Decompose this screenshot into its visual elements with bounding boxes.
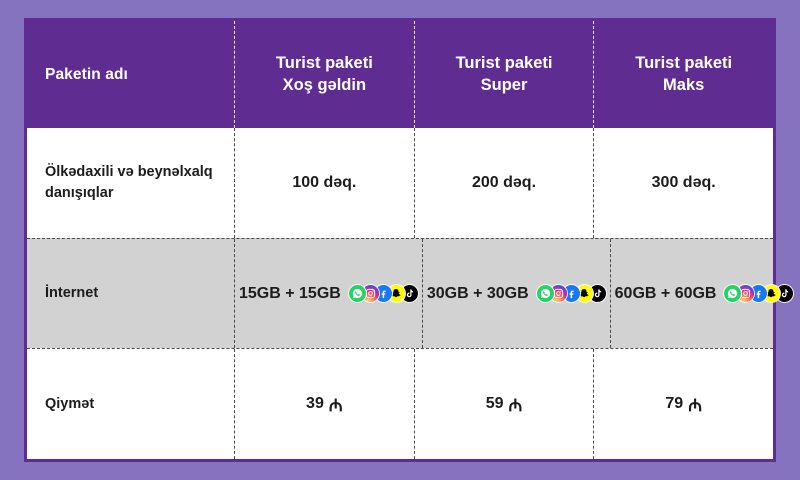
cell-price-package-3: 79₼ — [593, 349, 773, 459]
social-icon-cluster-1 — [349, 285, 418, 302]
manat-currency-icon: ₼ — [509, 397, 523, 414]
table-header-row: Paketin adı Turist paketi Xoş gəldin Tur… — [27, 21, 773, 128]
social-icon-cluster-3 — [724, 285, 793, 302]
internet-value-group-3: 60GB + 60GB — [615, 285, 794, 303]
header-package-1-line1: Turist paketi — [276, 54, 373, 72]
price-amount-3: 79 — [665, 395, 683, 413]
social-icon-cluster-2 — [537, 285, 606, 302]
header-package-2-line1: Turist paketi — [456, 54, 553, 72]
internet-amount-2: 30GB + 30GB — [427, 285, 529, 303]
cell-internet-package-2: 30GB + 30GB — [422, 239, 610, 349]
header-package-2-line2: Super — [456, 75, 553, 97]
internet-amount-3: 60GB + 60GB — [615, 285, 717, 303]
header-package-2-text: Turist paketi Super — [456, 53, 553, 97]
cell-price-package-1: 39₼ — [234, 349, 414, 459]
header-cell-package-name: Paketin adı — [27, 21, 234, 128]
cell-price-package-2: 59₼ — [414, 349, 594, 459]
row-label-internet: İnternet — [27, 239, 234, 349]
manat-currency-icon: ₼ — [329, 397, 343, 414]
cell-calls-package-2: 200 dəq. — [414, 128, 594, 238]
cell-calls-package-3: 300 dəq. — [593, 128, 773, 238]
header-package-3-line1: Turist paketi — [635, 54, 732, 72]
whatsapp-icon — [349, 285, 366, 302]
price-group-2: 59₼ — [486, 395, 523, 413]
header-cell-package-2: Turist paketi Super — [414, 21, 594, 128]
cell-calls-package-1: 100 dəq. — [234, 128, 414, 238]
header-package-3-text: Turist paketi Maks — [635, 53, 732, 97]
internet-amount-1: 15GB + 15GB — [239, 285, 341, 303]
row-label-price: Qiymət — [27, 349, 234, 459]
table-row-price: Qiymət 39₼ 59₼ 79₼ — [27, 348, 773, 459]
tariff-comparison-table: Paketin adı Turist paketi Xoş gəldin Tur… — [24, 18, 776, 462]
header-package-name-label: Paketin adı — [45, 66, 128, 84]
table-row-calls: Ölkədaxili və beynəlxalq danışıqlar 100 … — [27, 128, 773, 238]
header-package-3-line2: Maks — [635, 75, 732, 97]
table-row-internet: İnternet 15GB + 15GB — [27, 238, 773, 349]
price-group-3: 79₼ — [665, 395, 702, 413]
manat-currency-icon: ₼ — [688, 397, 702, 414]
header-cell-package-1: Turist paketi Xoş gəldin — [234, 21, 414, 128]
header-package-1-text: Turist paketi Xoş gəldin — [276, 53, 373, 97]
internet-value-group-2: 30GB + 30GB — [427, 285, 606, 303]
price-amount-1: 39 — [306, 395, 324, 413]
cell-internet-package-1: 15GB + 15GB — [234, 239, 422, 349]
internet-value-group-1: 15GB + 15GB — [239, 285, 418, 303]
price-amount-2: 59 — [486, 395, 504, 413]
whatsapp-icon — [537, 285, 554, 302]
row-label-calls: Ölkədaxili və beynəlxalq danışıqlar — [27, 128, 234, 238]
header-package-1-line2: Xoş gəldin — [276, 75, 373, 97]
header-cell-package-3: Turist paketi Maks — [593, 21, 773, 128]
cell-internet-package-3: 60GB + 60GB — [610, 239, 798, 349]
price-group-1: 39₼ — [306, 395, 343, 413]
page-root: Paketin adı Turist paketi Xoş gəldin Tur… — [0, 0, 800, 480]
